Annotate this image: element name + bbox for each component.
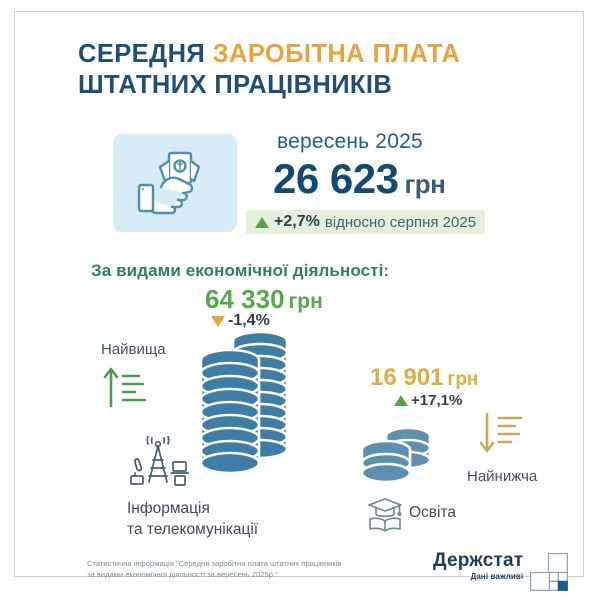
- lowest-value: 16 901грн: [370, 364, 478, 392]
- logo-tagline: Дані важливі: [471, 572, 524, 581]
- page-title: СЕРЕДНЯ ЗАРОБІТНА ПЛАТА ШТАТНИХ ПРАЦІВНИ…: [78, 39, 578, 101]
- hero-value-unit: грн: [404, 169, 445, 199]
- footnote: Статистична інформація "Середня заробітн…: [87, 558, 407, 580]
- hero-value-number: 26 623: [273, 155, 398, 202]
- highest-value: 64 330грн: [205, 284, 323, 315]
- logo-text: Держстат Дані важливі: [433, 550, 523, 581]
- short-coin-stack-icon: [360, 424, 438, 491]
- highest-category-line2: та телекомунікації: [127, 519, 258, 540]
- triangle-up-icon: [255, 217, 269, 228]
- lowest-delta-percent: +17,1%: [411, 392, 462, 409]
- lowest-label: Найнижча: [467, 468, 537, 485]
- hero-period: вересень 2025: [277, 130, 423, 154]
- footnote-line-1: Статистична інформація "Середня заробітн…: [87, 558, 407, 569]
- lowest-delta: +17,1%: [394, 392, 462, 409]
- infographic-frame: СЕРЕДНЯ ЗАРОБІТНА ПЛАТА ШТАТНИХ ПРАЦІВНИ…: [14, 11, 584, 577]
- hero-change-percent: +2,7%: [274, 213, 320, 231]
- title-accent: ЗАРОБІТНА ПЛАТА: [213, 40, 461, 68]
- lowest-value-unit: грн: [447, 369, 478, 390]
- arrow-up-bars-icon: [101, 362, 149, 415]
- graduation-cap-book-icon: [365, 496, 405, 537]
- title-line-2: ШТАТНИХ ПРАЦІВНИКІВ: [78, 70, 578, 101]
- triangle-up-icon: [394, 395, 408, 406]
- hero-change-badge: +2,7% відносно серпня 2025: [246, 210, 485, 234]
- logo-name: Держстат: [433, 550, 523, 571]
- derzhstat-squares-logo-mark: [530, 553, 568, 596]
- highest-label: Найвища: [101, 341, 166, 358]
- highest-value-number: 64 330: [205, 284, 285, 314]
- highest-category-line1: Інформація: [127, 498, 258, 519]
- section-heading: За видами економічної діяльності:: [91, 261, 389, 281]
- highest-category-label: Інформація та телекомунікації: [127, 498, 258, 540]
- highest-delta: -1,4%: [211, 312, 270, 330]
- derzhstat-logo: Держстат Дані важливі: [433, 550, 568, 596]
- lowest-category-label: Освіта: [409, 504, 456, 522]
- arrow-down-bars-icon: [477, 410, 525, 463]
- title-part-1: СЕРЕДНЯ: [78, 40, 213, 68]
- tall-coin-stack-icon: [198, 332, 294, 487]
- highest-value-unit: грн: [289, 290, 323, 313]
- hero-change-text: відносно серпня 2025: [325, 214, 476, 231]
- telecom-tower-icon: [127, 436, 189, 495]
- highest-delta-percent: -1,4%: [228, 312, 270, 330]
- footnote-line-2: за видами економічної діяльності за вере…: [87, 569, 407, 580]
- lowest-value-number: 16 901: [370, 364, 443, 391]
- triangle-down-icon: [211, 316, 225, 327]
- hero-value: 26 623грн: [273, 155, 445, 203]
- hand-holding-money-icon: [113, 134, 237, 232]
